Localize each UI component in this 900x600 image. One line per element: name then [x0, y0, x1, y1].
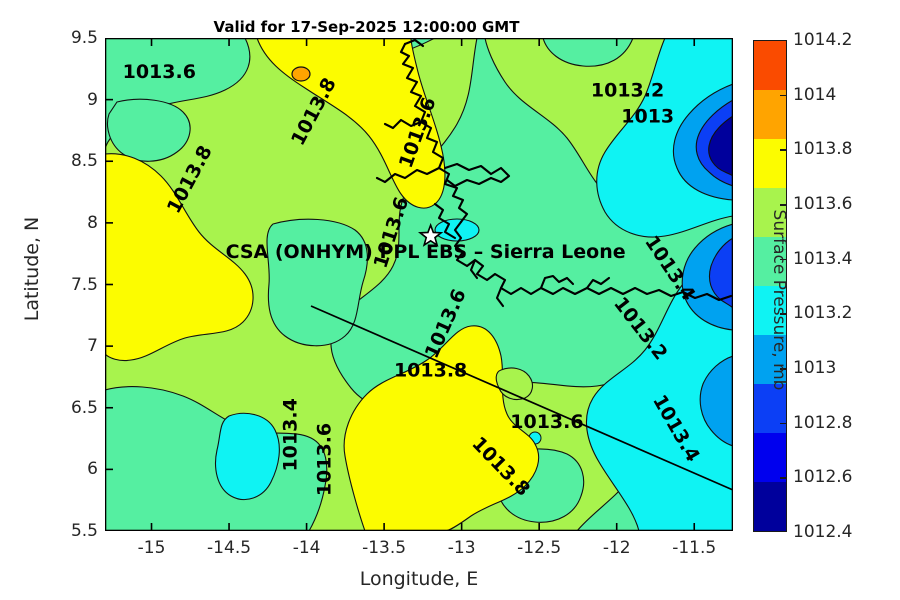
colorbar-label: 1012.4	[793, 522, 852, 542]
contour-label: 1013.6	[123, 61, 196, 83]
contour-label: 1013.2	[591, 79, 664, 101]
y-tick-label: 8	[52, 213, 98, 233]
colorbar-label: 1014.2	[793, 30, 852, 50]
x-tick-label: -13.5	[344, 538, 424, 558]
y-tick-label: 7.5	[52, 275, 98, 295]
colorbar-label: 1013.4	[793, 249, 852, 269]
contour-label: 1013	[621, 105, 674, 127]
colorbar-band	[754, 482, 786, 531]
x-tick-label: -11.5	[654, 538, 734, 558]
y-axis-tick-labels: 9.598.587.576.565.5	[46, 38, 98, 531]
page-title: Valid for 17-Sep-2025 12:00:00 GMT	[0, 18, 733, 36]
colorbar-title: Surface Pressure, mb	[769, 170, 789, 430]
colorbar-label: 1012.8	[793, 413, 852, 433]
colorbar-band	[754, 433, 786, 482]
y-tick-label: 9.5	[52, 28, 98, 48]
x-tick-label: -14.5	[189, 538, 269, 558]
colorbar-band	[754, 41, 786, 90]
contour-label: 1013.4	[280, 398, 302, 471]
x-tick-label: -12	[577, 538, 657, 558]
y-axis-title: Latitude, N	[21, 159, 43, 379]
colorbar-label: 1013	[793, 358, 836, 378]
x-tick-label: -12.5	[499, 538, 579, 558]
colorbar-label: 1012.6	[793, 467, 852, 487]
colorbar-label: 1013.6	[793, 194, 852, 214]
y-tick-label: 5.5	[52, 521, 98, 541]
y-tick-label: 9	[52, 90, 98, 110]
contour-label: 1013.8	[394, 359, 467, 381]
contour-label: 1013.6	[314, 423, 336, 496]
colorbar-tick-labels: 1014.210141013.81013.61013.41013.2101310…	[789, 40, 897, 532]
x-tick-label: -13	[422, 538, 502, 558]
x-tick-label: -14	[267, 538, 347, 558]
y-tick-label: 6	[52, 459, 98, 479]
y-tick-label: 7	[52, 336, 98, 356]
colorbar-band	[754, 90, 786, 139]
colorbar-label: 1014	[793, 85, 836, 105]
colorbar-label: 1013.2	[793, 303, 852, 323]
y-tick-label: 8.5	[52, 151, 98, 171]
contour-plot: 1013.61013.81013.81013.61013.61013.21013…	[105, 38, 733, 531]
colorbar-label: 1013.8	[793, 139, 852, 159]
y-tick-label: 6.5	[52, 398, 98, 418]
contour-label: 1013.6	[510, 411, 583, 433]
x-tick-label: -15	[112, 538, 192, 558]
x-axis-title: Longitude, E	[105, 568, 733, 590]
contour-svg: 1013.61013.81013.81013.61013.61013.21013…	[105, 38, 733, 531]
x-axis-tick-labels: -15-14.5-14-13.5-13-12.5-12-11.5	[105, 538, 733, 562]
